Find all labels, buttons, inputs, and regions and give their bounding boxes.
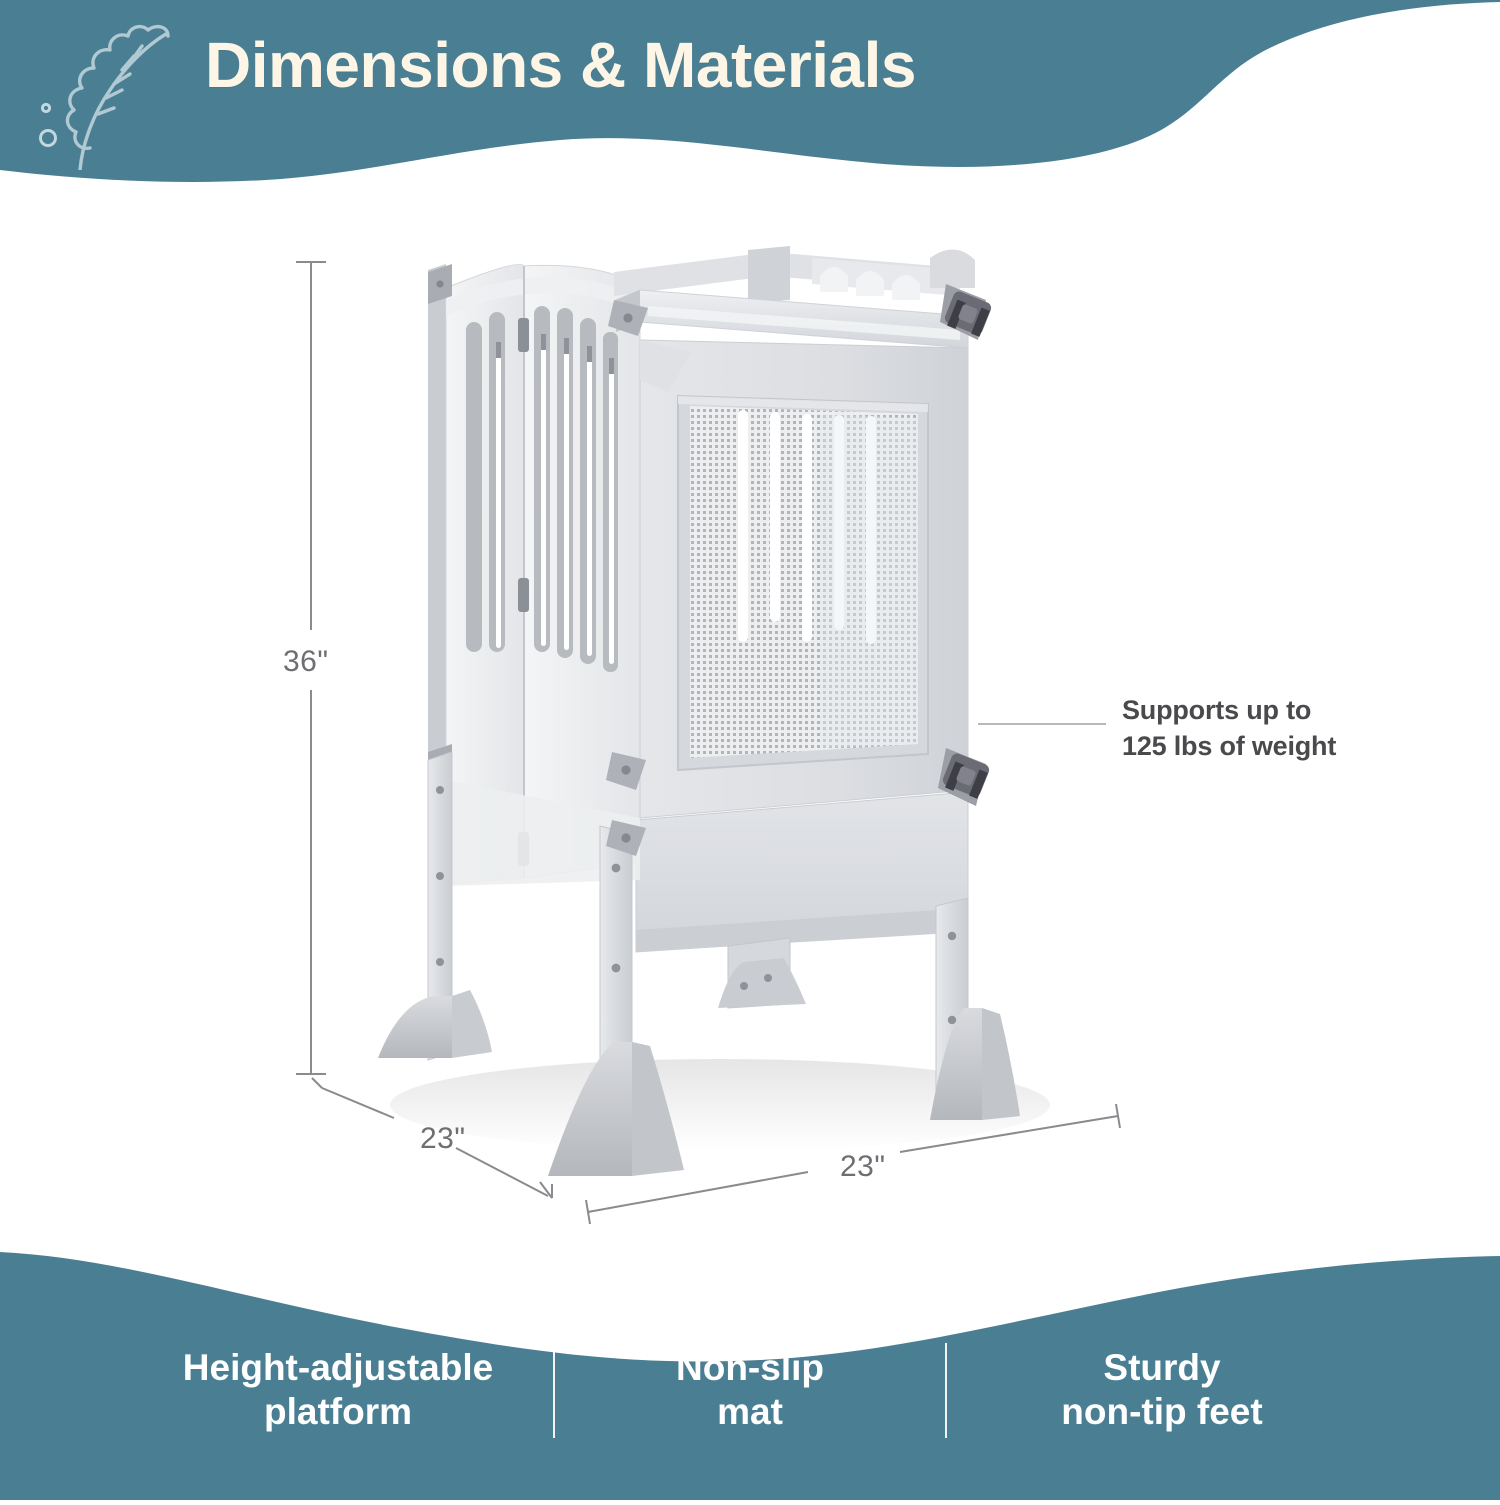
feature-item-sturdy-non-tip-feet: Sturdy non-tip feet: [947, 1346, 1377, 1433]
feature-line-2: mat: [555, 1390, 945, 1434]
weight-capacity-callout: Supports up to 125 lbs of weight: [1122, 693, 1336, 765]
feature-list: Height-adjustable platform Non-slip mat …: [0, 1320, 1500, 1460]
front-panel-body: [640, 340, 968, 818]
page-title: Dimensions & Materials: [205, 28, 916, 102]
callout-line-2: 125 lbs of weight: [1122, 729, 1336, 765]
lower-panel: [636, 792, 968, 952]
feature-line-2: platform: [123, 1390, 553, 1434]
feature-divider: [553, 1343, 555, 1438]
hinge-icon: [518, 318, 529, 352]
feature-line-2: non-tip feet: [947, 1390, 1377, 1434]
feature-line-1: Non-slip: [555, 1346, 945, 1390]
infographic-canvas: 36" 23" 23" Supports up to 125 lbs of we…: [0, 0, 1500, 1500]
header-banner: Dimensions & Materials: [0, 0, 1500, 200]
feather-icon: [18, 20, 178, 175]
dimension-height-label: 36": [283, 645, 329, 679]
dimension-depth-label: 23": [420, 1122, 466, 1156]
feature-line-1: Height-adjustable: [123, 1346, 553, 1390]
callout-line-1: Supports up to: [1122, 693, 1336, 729]
feature-divider: [945, 1343, 947, 1438]
hinge-icon: [518, 578, 529, 612]
feature-item-height-adjustable-platform: Height-adjustable platform: [123, 1346, 553, 1433]
dimension-width-label: 23": [840, 1150, 886, 1184]
feature-item-non-slip-mat: Non-slip mat: [555, 1346, 945, 1433]
feature-line-1: Sturdy: [947, 1346, 1377, 1390]
callout-leader-line: [978, 723, 1106, 725]
footer-banner: Height-adjustable platform Non-slip mat …: [0, 1180, 1500, 1500]
